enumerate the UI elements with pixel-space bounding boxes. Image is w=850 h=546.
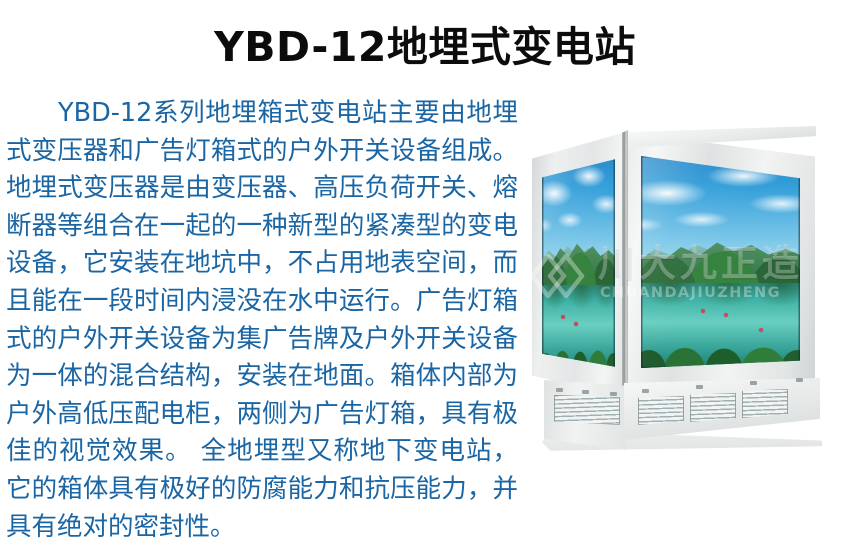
front-vent-2 [690, 393, 736, 422]
product-info-page: YBD-12地埋式变电站 YBD-12系列地埋箱式变电站主要由地埋式变压器和广告… [0, 0, 850, 503]
product-description-paragraph: YBD-12系列地埋箱式变电站主要由地埋式变压器和广告灯箱式的户外开关设备组成。… [6, 95, 518, 546]
front-advertising-lightbox [641, 156, 800, 368]
cabinet-hinge [582, 390, 589, 394]
cabinet-hinge [556, 388, 563, 392]
product-description: YBD-12系列地埋箱式变电站主要由地埋式变压器和广告灯箱式的户外开关设备组成。… [6, 95, 518, 546]
cabinet-hinge [610, 392, 617, 396]
panel-boat-marker [574, 322, 578, 326]
cabinet-hinge [642, 389, 649, 393]
panel-boat-marker [759, 328, 763, 332]
cabinet-corner-seam [622, 130, 628, 394]
page-title: YBD-12地埋式变电站 [0, 22, 850, 72]
panel-water-reflection [641, 283, 800, 321]
panel-boat-marker [724, 313, 728, 317]
cabinet-hinge [796, 378, 803, 382]
cabinet-hinge [750, 381, 757, 385]
front-vent-1 [638, 396, 684, 425]
side-vent-1 [554, 395, 620, 425]
side-advertising-lightbox [542, 156, 615, 371]
panel-water-reflection [542, 285, 615, 324]
substation-cabinet [520, 112, 846, 452]
front-vent-3 [742, 389, 788, 418]
product-photo [520, 112, 846, 452]
cabinet-hinge [696, 385, 703, 389]
